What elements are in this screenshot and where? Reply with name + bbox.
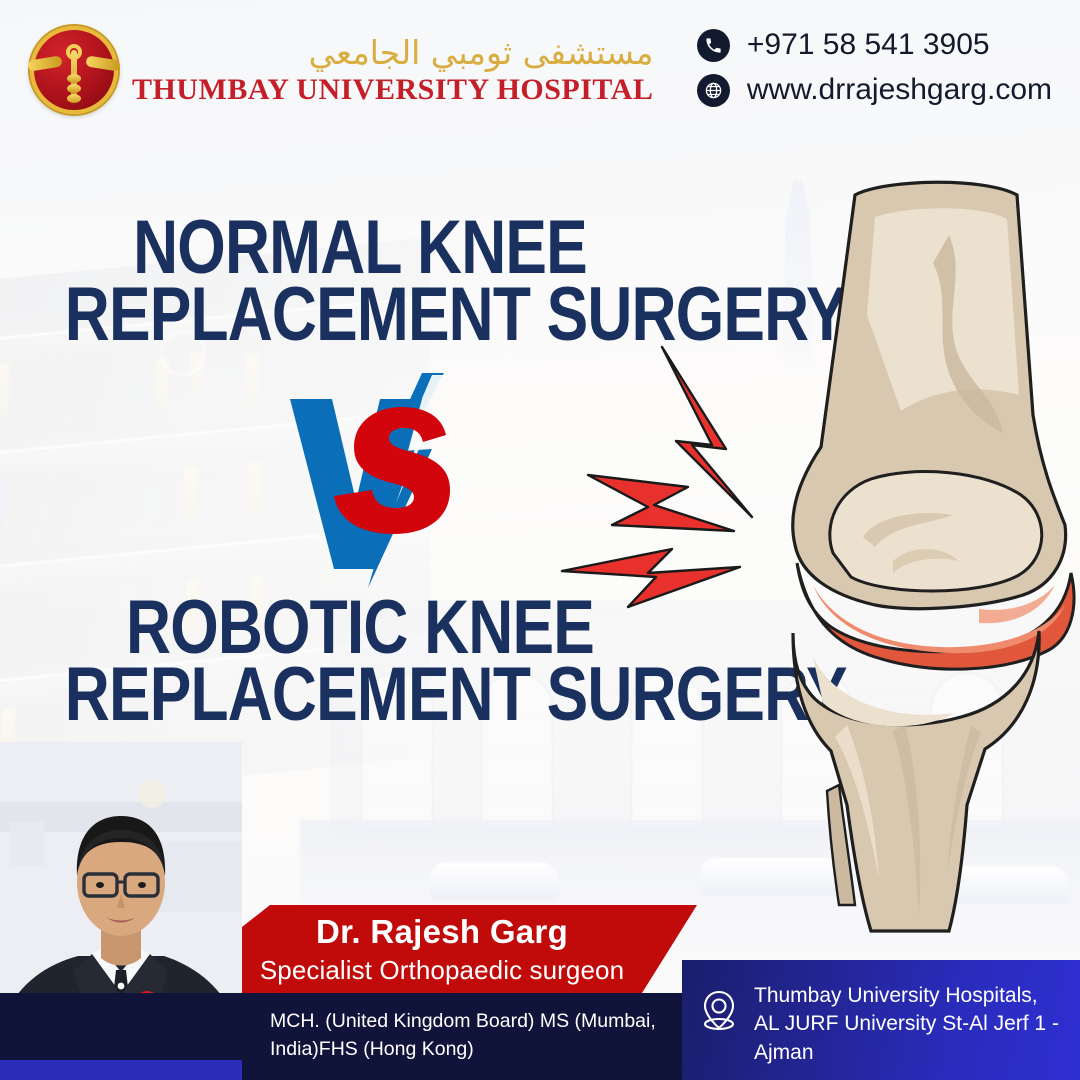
credentials-line-2: India)FHS (Hong Kong) <box>270 1035 662 1063</box>
address-text: Thumbay University Hospitals, AL JURF Un… <box>754 982 1059 1067</box>
address-line-2: AL JURF University St-Al Jerf 1 - <box>754 1012 1059 1035</box>
address-block: Thumbay University Hospitals, AL JURF Un… <box>682 960 1080 1080</box>
location-pin-icon <box>700 988 738 1032</box>
contact-info: +971 58 541 3905 www.drrajeshgarg.com <box>697 28 1052 107</box>
contact-phone-row[interactable]: +971 58 541 3905 <box>697 28 1052 62</box>
phone-number: +971 58 541 3905 <box>747 28 990 62</box>
headline-top-line2: REPLACEMENT SURGERY <box>65 282 655 349</box>
header: مستشفى ثومبي الجامعي THUMBAY UNIVERSITY … <box>0 0 1080 150</box>
doctor-credentials-block: MCH. (United Kingdom Board) MS (Mumbai, … <box>242 993 682 1080</box>
brand-logo: مستشفى ثومبي الجامعي THUMBAY UNIVERSITY … <box>30 26 653 114</box>
credentials-line-1: MCH. (United Kingdom Board) MS (Mumbai, <box>270 1007 662 1035</box>
caduceus-emblem-icon <box>30 26 118 114</box>
doctor-role: Specialist Orthopaedic surgeon <box>242 955 642 986</box>
poster-canvas: مستشفى ثومبي الجامعي THUMBAY UNIVERSITY … <box>0 0 1080 1080</box>
headline-normal-surgery: NORMAL KNEE REPLACEMENT SURGERY <box>65 215 655 349</box>
doctor-name: Dr. Rajesh Garg <box>242 913 642 951</box>
globe-icon <box>697 74 730 107</box>
headline-bottom-line2: REPLACEMENT SURGERY <box>65 662 655 729</box>
website-url: www.drrajeshgarg.com <box>747 73 1052 107</box>
brand-wordmark: مستشفى ثومبي الجامعي THUMBAY UNIVERSITY … <box>132 34 653 106</box>
knee-joint-anatomy-illustration <box>735 165 1080 955</box>
versus-badge-icon <box>272 373 502 588</box>
address-line-3: Ajman <box>754 1041 814 1064</box>
address-line-1: Thumbay University Hospitals, <box>754 984 1038 1007</box>
contact-website-row[interactable]: www.drrajeshgarg.com <box>697 73 1052 107</box>
doctor-name-banner: Dr. Rajesh Garg Specialist Orthopaedic s… <box>242 905 697 993</box>
phone-icon <box>697 29 730 62</box>
brand-name-arabic: مستشفى ثومبي الجامعي <box>309 34 654 72</box>
brand-name-english: THUMBAY UNIVERSITY HOSPITAL <box>132 73 653 106</box>
